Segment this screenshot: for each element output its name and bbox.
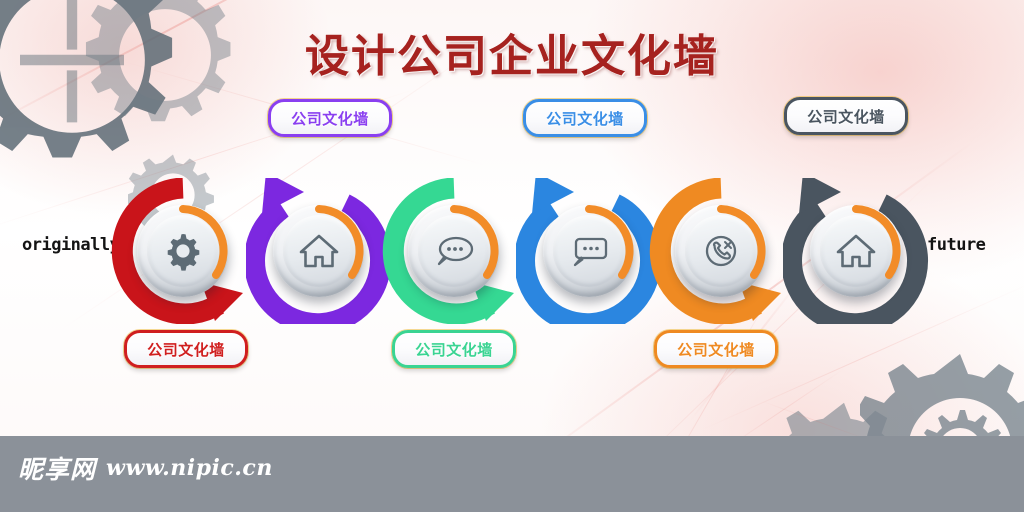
- top-label-3[interactable]: 公司文化墙: [784, 97, 908, 135]
- bottom-label-2[interactable]: 公司文化墙: [392, 330, 516, 368]
- label-originally: originally: [22, 235, 119, 255]
- watermark-logo: 昵享网: [18, 450, 96, 486]
- bottom-label-3-text: 公司文化墙: [677, 339, 755, 360]
- node-6-button[interactable]: [810, 205, 902, 297]
- accent-ring-orange: [408, 205, 500, 297]
- label-future: future: [927, 235, 985, 255]
- accent-ring-orange: [543, 205, 635, 297]
- top-label-1[interactable]: 公司文化墙: [268, 99, 392, 137]
- bottom-label-3[interactable]: 公司文化墙: [654, 330, 778, 368]
- process-node-4[interactable]: [516, 178, 662, 324]
- accent-ring-orange: [137, 205, 229, 297]
- process-node-2[interactable]: [246, 178, 392, 324]
- node-3-button[interactable]: [408, 205, 500, 297]
- bottom-label-1-text: 公司文化墙: [147, 339, 225, 360]
- accent-ring-orange: [810, 205, 902, 297]
- watermark: 昵享网 www.nipic.cn: [18, 450, 273, 486]
- footer-bar: 昵享网 www.nipic.cn: [0, 436, 1024, 512]
- top-label-3-text: 公司文化墙: [807, 106, 885, 127]
- top-label-2[interactable]: 公司文化墙: [523, 99, 647, 137]
- process-node-3[interactable]: [381, 178, 527, 324]
- process-node-1[interactable]: [110, 178, 256, 324]
- poster-canvas: 设计公司企业文化墙 originally future 公司文化墙 公司文化墙 …: [0, 0, 1024, 512]
- node-4-button[interactable]: [543, 205, 635, 297]
- node-5-button[interactable]: [675, 205, 767, 297]
- watermark-url: www.nipic.cn: [106, 455, 273, 481]
- node-1-button[interactable]: [137, 205, 229, 297]
- top-label-2-text: 公司文化墙: [546, 108, 624, 129]
- process-node-5[interactable]: [648, 178, 794, 324]
- top-label-1-text: 公司文化墙: [291, 108, 369, 129]
- page-title: 设计公司企业文化墙: [0, 20, 1024, 84]
- accent-ring-orange: [675, 205, 767, 297]
- accent-ring-orange: [273, 205, 365, 297]
- bottom-label-1[interactable]: 公司文化墙: [124, 330, 248, 368]
- process-node-6[interactable]: [783, 178, 929, 324]
- node-2-button[interactable]: [273, 205, 365, 297]
- bottom-label-2-text: 公司文化墙: [415, 339, 493, 360]
